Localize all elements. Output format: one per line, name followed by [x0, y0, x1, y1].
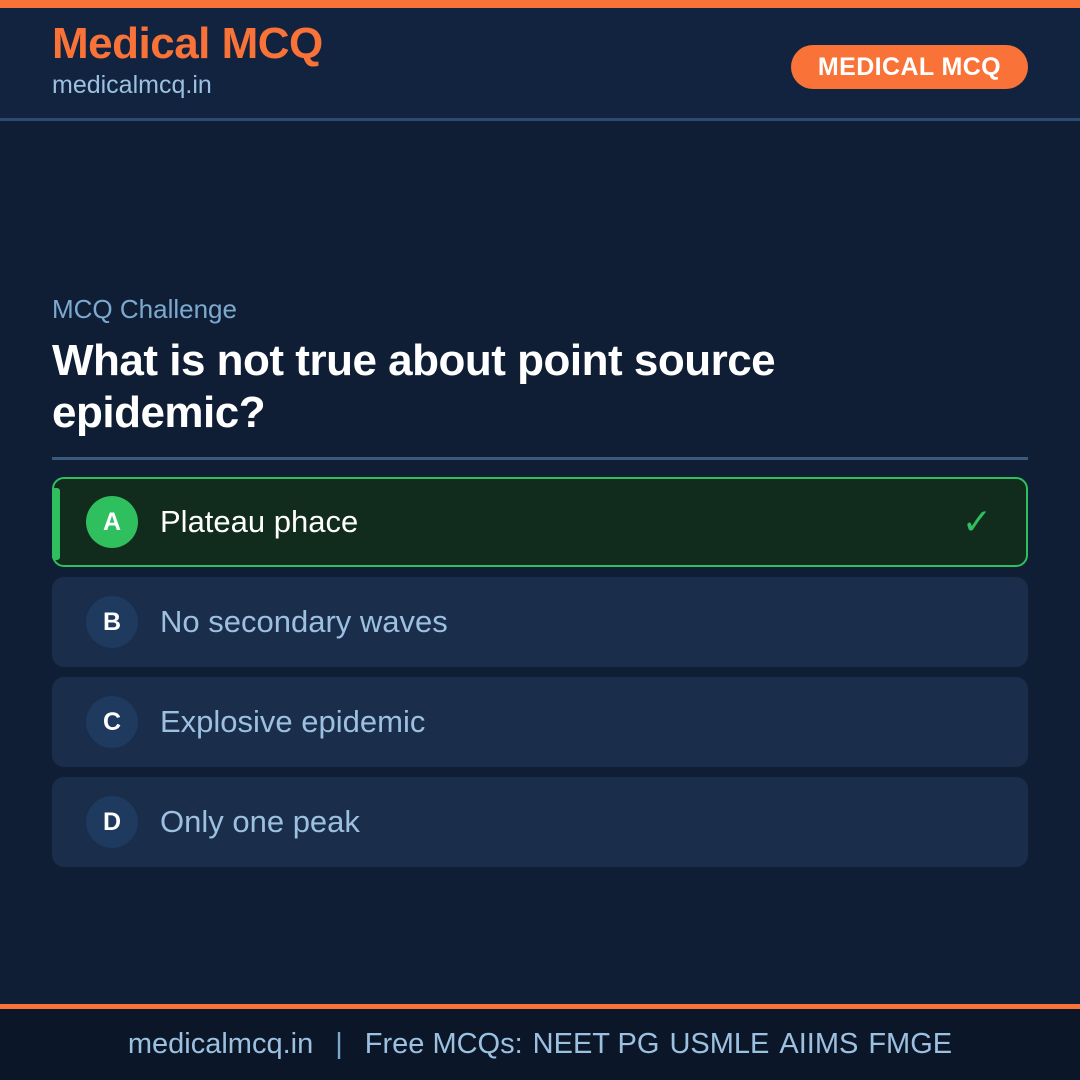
- brand-title: Medical MCQ: [52, 20, 323, 68]
- check-icon: ✓: [962, 504, 992, 540]
- option-b-label: No secondary waves: [160, 603, 448, 640]
- brand-subtitle: medicalmcq.in: [52, 70, 323, 100]
- correct-accent-bar: [52, 488, 60, 560]
- question-title: What is not true about point source epid…: [52, 335, 912, 439]
- option-b-badge: B: [86, 596, 138, 648]
- footer-content: medicalmcq.in | Free MCQs: NEET PG USMLE…: [128, 1028, 952, 1061]
- option-c-label: Explosive epidemic: [160, 703, 425, 740]
- footer-exam-fmge: FMGE: [868, 1028, 952, 1061]
- option-d[interactable]: D Only one peak: [52, 777, 1028, 867]
- option-d-badge: D: [86, 796, 138, 848]
- option-b[interactable]: B No secondary waves: [52, 577, 1028, 667]
- footer-site-label: medicalmcq.in: [128, 1028, 313, 1061]
- footer-exam-neetpg: NEET PG: [533, 1028, 660, 1061]
- option-a-label: Plateau phace: [160, 503, 358, 540]
- page-footer: medicalmcq.in | Free MCQs: NEET PG USMLE…: [0, 1004, 1080, 1080]
- page-header: Medical MCQ medicalmcq.in MEDICAL MCQ: [0, 8, 1080, 121]
- question-divider: [52, 457, 1028, 460]
- eyebrow-label: MCQ Challenge: [52, 294, 1028, 325]
- options-list: A Plateau phace ✓ B No secondary waves C…: [52, 477, 1028, 877]
- question-block: MCQ Challenge What is not true about poi…: [52, 294, 1028, 439]
- footer-free-mcqs-label: Free MCQs:: [365, 1028, 523, 1061]
- footer-separator: |: [335, 1028, 343, 1061]
- brand-block: Medical MCQ medicalmcq.in: [52, 20, 323, 100]
- header-badge: MEDICAL MCQ: [791, 45, 1028, 89]
- footer-exam-aiims: AIIMS: [779, 1028, 858, 1061]
- option-c-badge: C: [86, 696, 138, 748]
- option-a[interactable]: A Plateau phace ✓: [52, 477, 1028, 567]
- option-d-label: Only one peak: [160, 803, 360, 840]
- option-a-badge: A: [86, 496, 138, 548]
- main-content: MCQ Challenge What is not true about poi…: [0, 124, 1080, 1004]
- top-accent-bar: [0, 0, 1080, 8]
- footer-exam-usmle: USMLE: [669, 1028, 769, 1061]
- option-c[interactable]: C Explosive epidemic: [52, 677, 1028, 767]
